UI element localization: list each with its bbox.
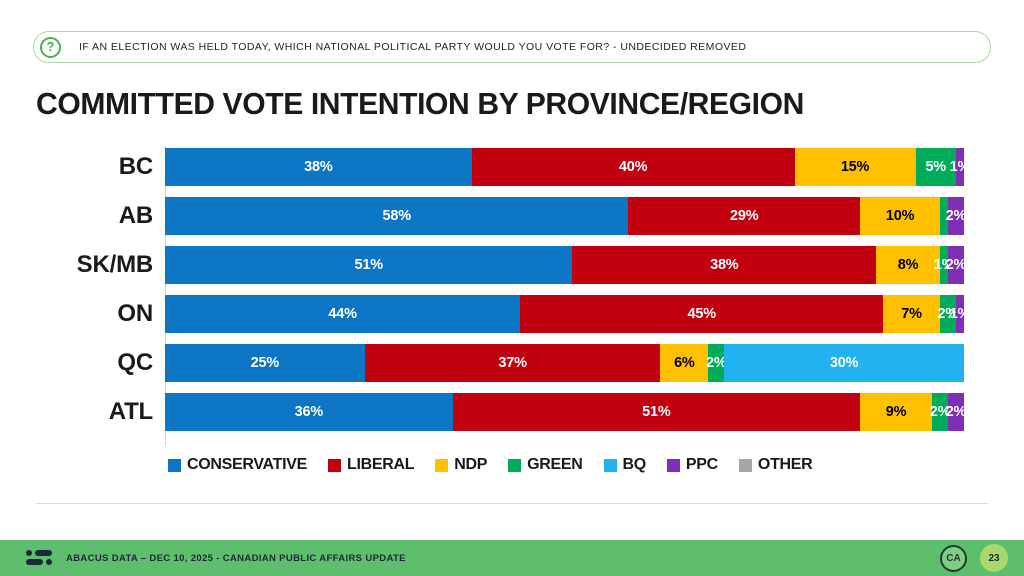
- row-label-atl: ATL: [60, 398, 165, 426]
- segment-value-label: 2%: [946, 257, 967, 273]
- stacked-bar: 44%45%7%2%1%: [165, 295, 964, 333]
- segment-value-label: 2%: [946, 404, 967, 420]
- row-label-on: ON: [60, 300, 165, 328]
- bar-segment-ppc: 2%: [948, 197, 964, 235]
- question-mark-circle-icon: ?: [40, 37, 61, 58]
- legend-label: NDP: [454, 456, 487, 474]
- segment-value-label: 1%: [950, 306, 971, 322]
- stacked-bar: 36%51%9%2%2%: [165, 393, 964, 431]
- legend-item-other[interactable]: OTHER: [739, 456, 813, 474]
- bar-segment-conservative: 58%: [165, 197, 628, 235]
- stacked-bar: 51%38%8%1%2%: [165, 246, 964, 284]
- bar-segment-conservative: 36%: [165, 393, 453, 431]
- legend-item-bq[interactable]: BQ: [604, 456, 646, 474]
- footer-divider: [36, 503, 988, 504]
- legend-swatch-icon: [604, 459, 617, 472]
- legend-label: OTHER: [758, 456, 813, 474]
- chart-row: ATL36%51%9%2%2%: [60, 391, 964, 433]
- bar-segment-ndp: 15%: [795, 148, 916, 186]
- segment-value-label: 44%: [328, 306, 356, 322]
- segment-value-label: 8%: [898, 257, 919, 273]
- segment-value-label: 36%: [295, 404, 323, 420]
- segment-value-label: 30%: [830, 355, 858, 371]
- page-title: COMMITTED VOTE INTENTION BY PROVINCE/REG…: [36, 86, 804, 122]
- legend-label: LIBERAL: [347, 456, 414, 474]
- chart-legend: CONSERVATIVELIBERALNDPGREENBQPPCOTHER: [168, 456, 833, 474]
- bar-segment-ppc: 1%: [956, 148, 964, 186]
- legend-swatch-icon: [328, 459, 341, 472]
- segment-value-label: 9%: [886, 404, 907, 420]
- row-label-sk-mb: SK/MB: [60, 251, 165, 279]
- bar-segment-conservative: 38%: [165, 148, 472, 186]
- bar-segment-ppc: 1%: [956, 295, 964, 333]
- legend-item-green[interactable]: GREEN: [508, 456, 582, 474]
- stacked-bar: 38%40%15%5%1%: [165, 148, 964, 186]
- segment-value-label: 25%: [251, 355, 279, 371]
- bar-segment-ppc: 2%: [948, 246, 964, 284]
- bar-segment-liberal: 51%: [453, 393, 860, 431]
- footer-text: ABACUS DATA – DEC 10, 2025 - CANADIAN PU…: [66, 553, 406, 564]
- question-text: IF AN ELECTION WAS HELD TODAY, WHICH NAT…: [79, 41, 746, 53]
- chart-row: SK/MB51%38%8%1%2%: [60, 244, 964, 286]
- stacked-bar: 58%29%10%2%: [165, 197, 964, 235]
- chart-row: AB58%29%10%2%: [60, 195, 964, 237]
- row-label-ab: AB: [60, 202, 165, 230]
- segment-value-label: 51%: [642, 404, 670, 420]
- legend-swatch-icon: [168, 459, 181, 472]
- stacked-bar-chart: BC38%40%15%5%1%AB58%29%10%2%SK/MB51%38%8…: [60, 146, 964, 446]
- bar-segment-liberal: 40%: [472, 148, 795, 186]
- legend-swatch-icon: [667, 459, 680, 472]
- chart-rows: BC38%40%15%5%1%AB58%29%10%2%SK/MB51%38%8…: [60, 146, 964, 433]
- chart-row: QC25%37%6%2%30%: [60, 342, 964, 384]
- segment-value-label: 1%: [950, 159, 971, 175]
- stacked-bar: 25%37%6%2%30%: [165, 344, 964, 382]
- bar-segment-ndp: 10%: [860, 197, 940, 235]
- segment-value-label: 10%: [886, 208, 914, 224]
- segment-value-label: 2%: [946, 208, 967, 224]
- question-banner: ? IF AN ELECTION WAS HELD TODAY, WHICH N…: [33, 31, 991, 63]
- legend-label: PPC: [686, 456, 718, 474]
- legend-label: GREEN: [527, 456, 582, 474]
- legend-swatch-icon: [508, 459, 521, 472]
- legend-item-conservative[interactable]: CONSERVATIVE: [168, 456, 307, 474]
- slide: ? IF AN ELECTION WAS HELD TODAY, WHICH N…: [0, 0, 1024, 576]
- segment-value-label: 37%: [498, 355, 526, 371]
- legend-swatch-icon: [435, 459, 448, 472]
- page-number-badge: 23: [980, 544, 1008, 572]
- row-label-qc: QC: [60, 349, 165, 377]
- bar-segment-green: 2%: [708, 344, 724, 382]
- segment-value-label: 40%: [619, 159, 647, 175]
- legend-label: BQ: [623, 456, 646, 474]
- ca-badge-icon: CA: [940, 545, 967, 572]
- footer-right-group: CA 23: [940, 540, 1024, 576]
- segment-value-label: 6%: [674, 355, 695, 371]
- footer-bar: ABACUS DATA – DEC 10, 2025 - CANADIAN PU…: [0, 540, 1024, 576]
- legend-item-liberal[interactable]: LIBERAL: [328, 456, 414, 474]
- chart-row: BC38%40%15%5%1%: [60, 146, 964, 188]
- bar-segment-conservative: 51%: [165, 246, 572, 284]
- bar-segment-liberal: 45%: [520, 295, 883, 333]
- abacus-logo-icon: [26, 550, 52, 566]
- bar-segment-ndp: 7%: [883, 295, 939, 333]
- chart-row: ON44%45%7%2%1%: [60, 293, 964, 335]
- legend-item-ppc[interactable]: PPC: [667, 456, 718, 474]
- segment-value-label: 5%: [925, 159, 946, 175]
- legend-label: CONSERVATIVE: [187, 456, 307, 474]
- bar-segment-liberal: 38%: [572, 246, 876, 284]
- bar-segment-ndp: 8%: [876, 246, 940, 284]
- bar-segment-bq: 30%: [724, 344, 964, 382]
- row-label-bc: BC: [60, 153, 165, 181]
- bar-segment-conservative: 44%: [165, 295, 520, 333]
- segment-value-label: 45%: [687, 306, 715, 322]
- segment-value-label: 15%: [841, 159, 869, 175]
- bar-segment-ppc: 2%: [948, 393, 964, 431]
- bar-segment-ndp: 6%: [660, 344, 708, 382]
- legend-item-ndp[interactable]: NDP: [435, 456, 487, 474]
- bar-segment-liberal: 37%: [365, 344, 661, 382]
- segment-value-label: 51%: [355, 257, 383, 273]
- bar-segment-conservative: 25%: [165, 344, 365, 382]
- bar-segment-ndp: 9%: [860, 393, 932, 431]
- bar-segment-liberal: 29%: [628, 197, 860, 235]
- segment-value-label: 38%: [710, 257, 738, 273]
- segment-value-label: 38%: [304, 159, 332, 175]
- segment-value-label: 29%: [730, 208, 758, 224]
- segment-value-label: 7%: [901, 306, 922, 322]
- legend-swatch-icon: [739, 459, 752, 472]
- segment-value-label: 58%: [382, 208, 410, 224]
